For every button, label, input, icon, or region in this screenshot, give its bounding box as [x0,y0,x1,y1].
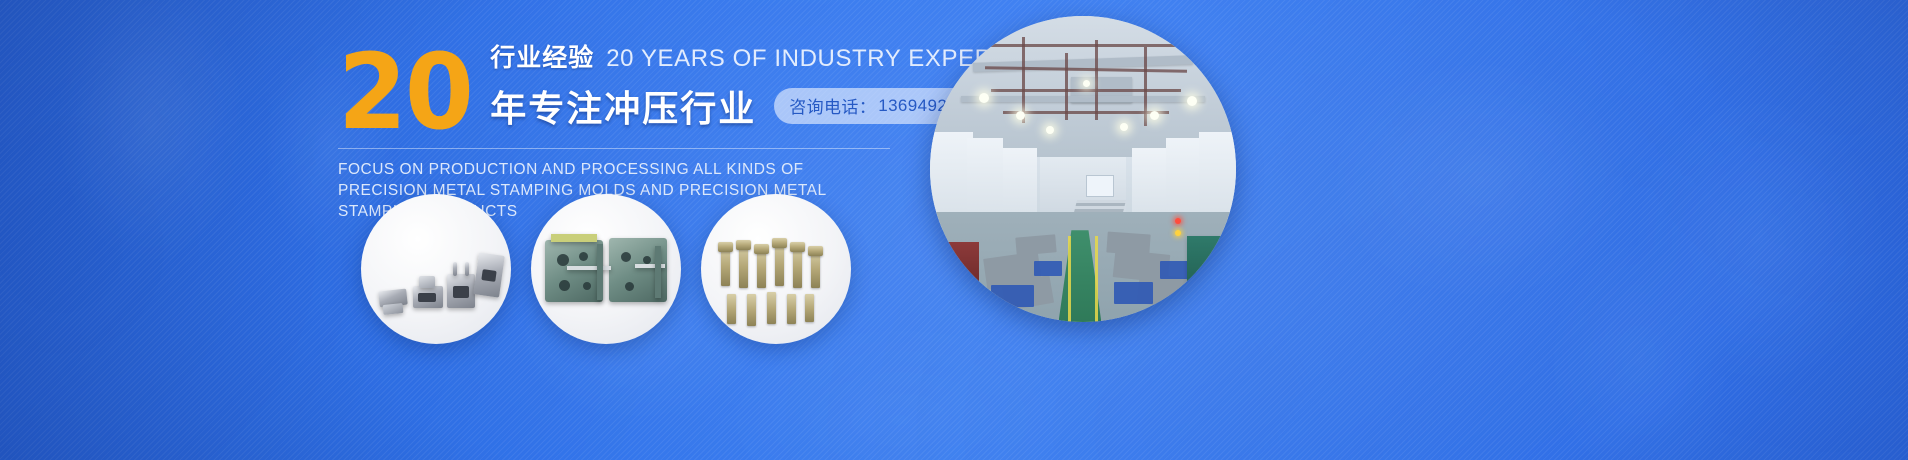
phone-label: 咨询电话： [789,93,876,118]
experience-label-cn: 行业经验 [490,38,594,74]
factory-workshop-photo[interactable] [930,16,1236,322]
stamping-mold-illustration [531,194,681,344]
years-number: 20 [338,51,472,134]
focus-industry-label-cn: 年专注冲压行业 [490,80,756,132]
connectors-illustration [361,194,511,344]
product-circle-precision-pins[interactable] [701,194,851,344]
product-circle-connectors[interactable] [361,194,511,344]
product-circle-stamping-mold[interactable] [531,194,681,344]
promo-banner: 20 行业经验 20 YEARS OF INDUSTRY EXPERIENCE … [0,0,1908,460]
headline-row-primary: 20 行业经验 20 YEARS OF INDUSTRY EXPERIENCE … [338,38,958,134]
precision-pins-illustration [701,194,851,344]
